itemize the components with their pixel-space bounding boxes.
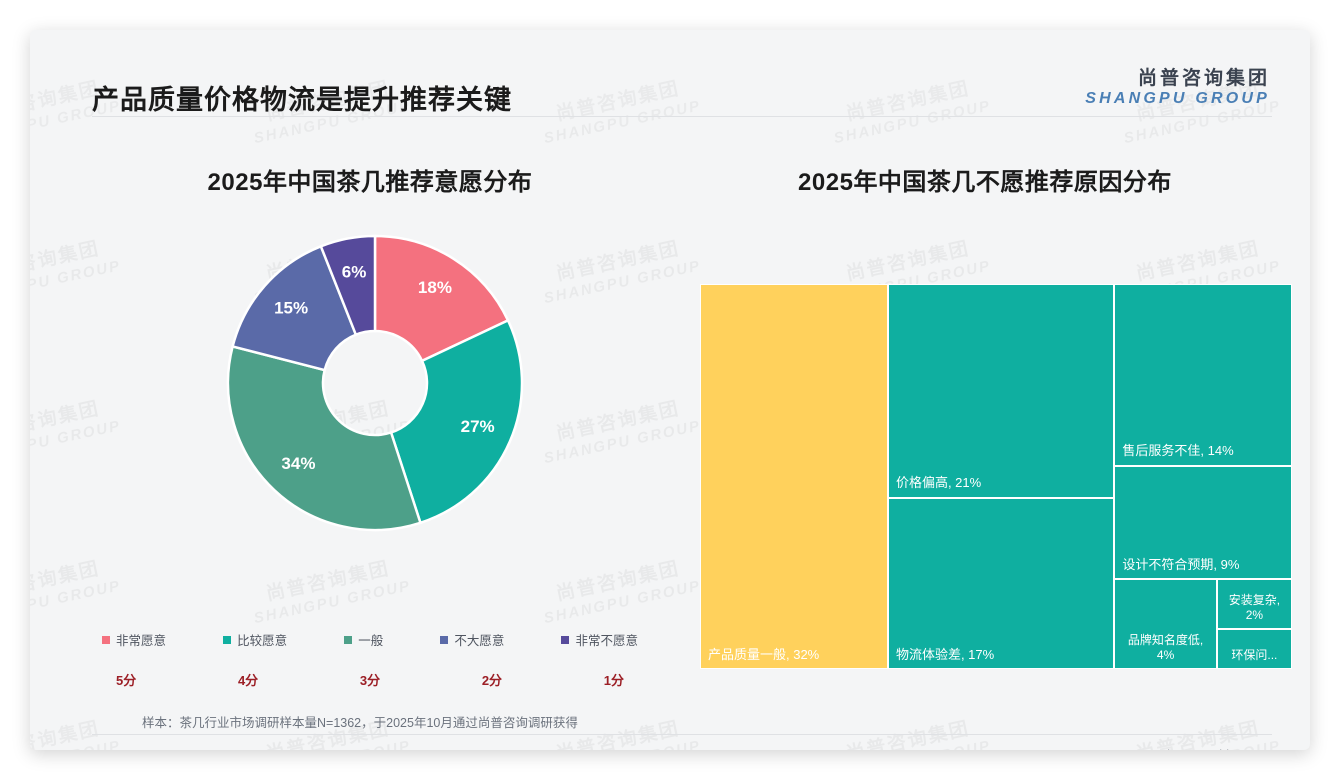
sample-note: 样本：茶几行业市场调研样本量N=1362，于2025年10月通过尚普咨询调研获得 [142,712,578,731]
donut-slice-label: 18% [418,278,452,297]
legend-item[interactable]: 非常不愿意 [561,630,638,649]
donut-chart: 18%27%34%15%6% [70,218,670,588]
website-url: www.shangpu-china.com [1131,748,1270,750]
donut-slice-label: 27% [461,417,495,436]
treemap-cell[interactable]: 设计不符合预期, 9% [1114,466,1292,580]
donut-slice-label: 15% [274,299,308,318]
treemap-cell[interactable]: 安装复杂, 2% [1217,579,1292,628]
donut-legend: 非常愿意比较愿意一般不大愿意非常不愿意 [80,630,660,649]
watermark-text: 尚普咨询集团SHANGPU GROUP [30,714,123,750]
legend-item[interactable]: 一般 [344,630,383,649]
legend-label: 一般 [358,630,383,649]
score-label: 4分 [238,670,258,689]
brand-logo: 尚普咨询集团 SHANGPU GROUP [1085,68,1270,108]
treemap-cell[interactable]: 环保问... [1217,629,1292,669]
legend-swatch-icon [344,636,352,644]
right-chart-title: 2025年中国茶几不愿推荐原因分布 [690,162,1280,197]
logo-english-text: SHANGPU GROUP [1085,90,1270,108]
footer-divider [92,734,1272,735]
legend-swatch-icon [102,636,110,644]
donut-slice-label: 34% [281,454,315,473]
legend-swatch-icon [440,636,448,644]
logo-chinese-text: 尚普咨询集团 [1085,68,1270,90]
score-label: 3分 [360,670,380,689]
legend-item[interactable]: 不大愿意 [440,630,504,649]
score-row: 5分4分3分2分1分 [80,670,660,689]
treemap-cell-label: 售后服务不佳, 14% [1122,443,1287,459]
legend-swatch-icon [223,636,231,644]
page-title: 产品质量价格物流是提升推荐关键 [92,78,512,117]
legend-label: 非常不愿意 [575,630,638,649]
treemap-cell[interactable]: 产品质量一般, 32% [700,284,888,669]
donut-chart-panel: 2025年中国茶几推荐意愿分布 18%27%34%15%6% 非常愿意比较愿意一… [70,162,670,702]
treemap-cell[interactable]: 价格偏高, 21% [888,284,1114,498]
legend-label: 比较愿意 [237,630,287,649]
treemap-cell-label: 安装复杂, 2% [1221,593,1288,623]
score-label: 1分 [604,670,624,689]
header-divider [92,116,1272,117]
treemap-cell[interactable]: 物流体验差, 17% [888,498,1114,669]
legend-item[interactable]: 非常愿意 [102,630,166,649]
copyright-text: ©2025.12 SHANGPU GROUP [98,748,267,750]
donut-slice-label: 6% [342,263,367,282]
legend-item[interactable]: 比较愿意 [223,630,287,649]
treemap-cell[interactable]: 售后服务不佳, 14% [1114,284,1292,466]
treemap-cell-label: 环保问... [1221,648,1288,663]
watermark-text: 尚普咨询集团SHANGPU GROUP [827,714,993,750]
treemap-chart: 产品质量一般, 32%价格偏高, 21%物流体验差, 17%售后服务不佳, 14… [700,284,1292,669]
treemap-cell-label: 品牌知名度低, 4% [1118,633,1212,663]
score-label: 5分 [116,670,136,689]
legend-label: 不大愿意 [454,630,504,649]
legend-swatch-icon [561,636,569,644]
treemap-cell-label: 设计不符合预期, 9% [1122,557,1287,573]
treemap-chart-panel: 2025年中国茶几不愿推荐原因分布 产品质量一般, 32%价格偏高, 21%物流… [690,162,1280,702]
treemap-cell-label: 产品质量一般, 32% [708,647,883,663]
treemap-cell[interactable]: 品牌知名度低, 4% [1114,579,1216,669]
legend-label: 非常愿意 [116,630,166,649]
slide-card: 尚普咨询集团SHANGPU GROUP尚普咨询集团SHANGPU GROUP尚普… [30,30,1310,750]
treemap-cell-label: 物流体验差, 17% [896,647,1109,663]
watermark-text: 尚普咨询集团SHANGPU GROUP [1117,714,1283,750]
donut-chart-svg: 18%27%34%15%6% [225,218,525,548]
donut-slice[interactable] [228,346,420,530]
score-label: 2分 [482,670,502,689]
treemap-cell-label: 价格偏高, 21% [896,475,1109,491]
slide-header: 产品质量价格物流是提升推荐关键 尚普咨询集团 SHANGPU GROUP [30,30,1310,116]
left-chart-title: 2025年中国茶几推荐意愿分布 [70,162,670,197]
